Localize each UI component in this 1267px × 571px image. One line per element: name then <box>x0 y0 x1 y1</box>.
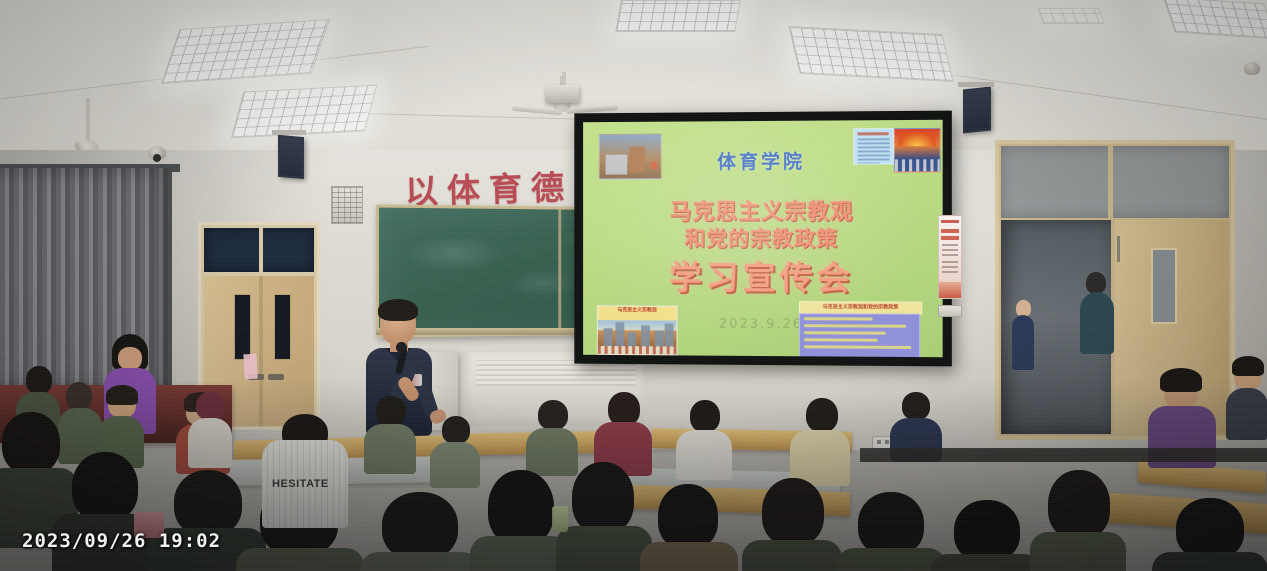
audience-person <box>556 462 652 571</box>
slide-thumb-banner: 马克思主义宗教观 <box>598 306 677 313</box>
wall-speaker <box>963 87 991 134</box>
audience-person <box>890 392 942 448</box>
audience-person <box>1226 360 1267 432</box>
audience-person <box>360 492 480 571</box>
slide-image-bottom-left: 马克思主义宗教观 <box>597 305 678 355</box>
speaker-bracket <box>958 82 994 87</box>
audience-person <box>364 396 416 458</box>
audience-person <box>930 500 1042 571</box>
audience-person <box>430 416 480 474</box>
shirt-text: HESITATE <box>272 478 344 490</box>
hallway-person <box>1080 272 1114 354</box>
ceiling-light-panel <box>1037 8 1105 24</box>
timestamp-overlay: 2023/09/26 19:02 <box>22 530 221 552</box>
audience-person <box>790 398 850 464</box>
door-vision-panel <box>1151 248 1177 324</box>
baseboard <box>860 448 1267 462</box>
slide-surface: 邀 体育学院 马克思主义宗教观 和党的宗教政策 学习宣传会 2023.9.26 … <box>583 120 943 357</box>
hallway-person <box>1012 300 1034 370</box>
slide-organization: 体育学院 <box>583 146 943 175</box>
classroom-photo: 以体育德 邀 <box>0 0 1267 571</box>
ceiling-fan-rod <box>86 98 90 142</box>
slide-title-line1: 马克思主义宗教观 <box>583 194 943 227</box>
water-bottle <box>552 506 568 532</box>
audience-person <box>98 388 144 450</box>
transom-window <box>1001 146 1229 218</box>
ceiling-light-panel <box>615 0 741 32</box>
audience-person <box>186 392 232 454</box>
ceiling-light-panel <box>161 19 330 84</box>
door-notice <box>243 354 257 380</box>
audience-person <box>594 392 652 458</box>
door-vision-panel <box>274 294 291 360</box>
projection-screen: 邀 体育学院 马克思主义宗教观 和党的宗教政策 学习宣传会 2023.9.26 … <box>574 111 952 367</box>
wall-switch[interactable] <box>938 305 962 317</box>
speaker-bracket <box>272 130 306 135</box>
wall-control-panel[interactable] <box>331 186 363 224</box>
audience-person <box>1152 498 1267 571</box>
ceiling-light-panel <box>788 26 953 82</box>
slide-title-line3: 学习宣传会 <box>583 251 943 300</box>
audience-person <box>742 478 842 571</box>
microphone-head <box>396 342 407 353</box>
projector <box>545 85 579 103</box>
security-camera <box>1244 62 1260 75</box>
wall-speaker <box>278 135 304 179</box>
audience-person <box>676 400 732 462</box>
slide-title-line2: 和党的宗教政策 <box>583 223 943 253</box>
audience-person <box>640 484 738 571</box>
door-handle[interactable] <box>268 374 284 380</box>
audience-person <box>1030 470 1126 571</box>
slide-list-box <box>799 313 920 357</box>
values-poster <box>938 215 962 299</box>
audience-person <box>526 400 578 460</box>
camera-lens-icon <box>153 154 161 162</box>
door-vision-panel <box>234 294 251 360</box>
